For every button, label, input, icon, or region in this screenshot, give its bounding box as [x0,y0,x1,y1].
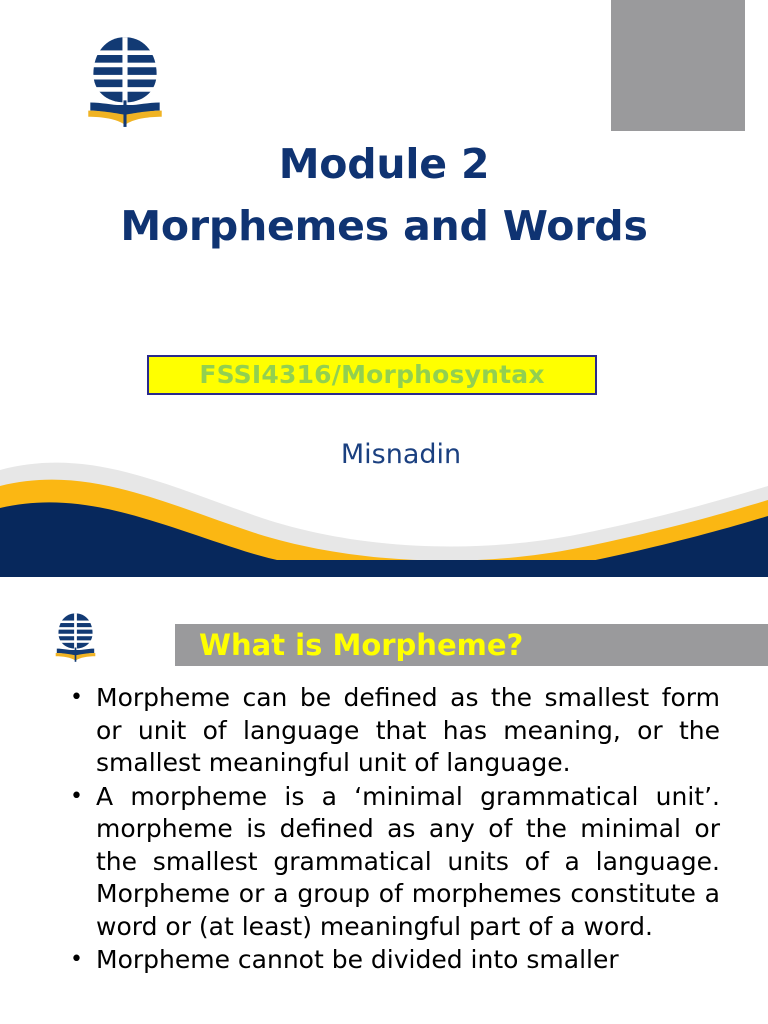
title-line-2: Morphemes and Words [0,195,768,257]
title-line-1: Module 2 [0,133,768,195]
universitas-terbuka-logo-icon [48,609,103,664]
gray-decoration-block [611,0,745,131]
list-item-text: A morpheme is a ‘minimal grammatical uni… [96,781,720,944]
section-header-bar: What is Morpheme? [175,624,768,666]
universitas-terbuka-logo-icon [74,29,176,131]
list-item: • Morpheme cannot be divided into smalle… [60,944,720,977]
bullet-marker: • [70,944,83,977]
bullet-marker: • [70,682,83,715]
list-item-text: Morpheme cannot be divided into smaller [96,944,720,977]
title-slide: Module 2 Morphemes and Words FSSI4316/Mo… [0,0,768,577]
list-item: • A morpheme is a ‘minimal grammatical u… [60,781,720,944]
bullet-marker: • [70,781,83,814]
content-slide: What is Morpheme? • Morpheme can be defi… [0,577,768,1024]
section-title-text: What is Morpheme? [175,629,523,661]
list-item: • Morpheme can be defined as the smalles… [60,682,720,780]
page-title: Module 2 Morphemes and Words [0,133,768,257]
course-code-label: FSSI4316/Morphosyntax [199,362,544,388]
list-item-text: Morpheme can be defined as the smallest … [96,682,720,780]
wave-footer-decoration [0,452,768,577]
course-code-badge: FSSI4316/Morphosyntax [147,355,597,395]
bullet-list: • Morpheme can be defined as the smalles… [60,682,720,978]
